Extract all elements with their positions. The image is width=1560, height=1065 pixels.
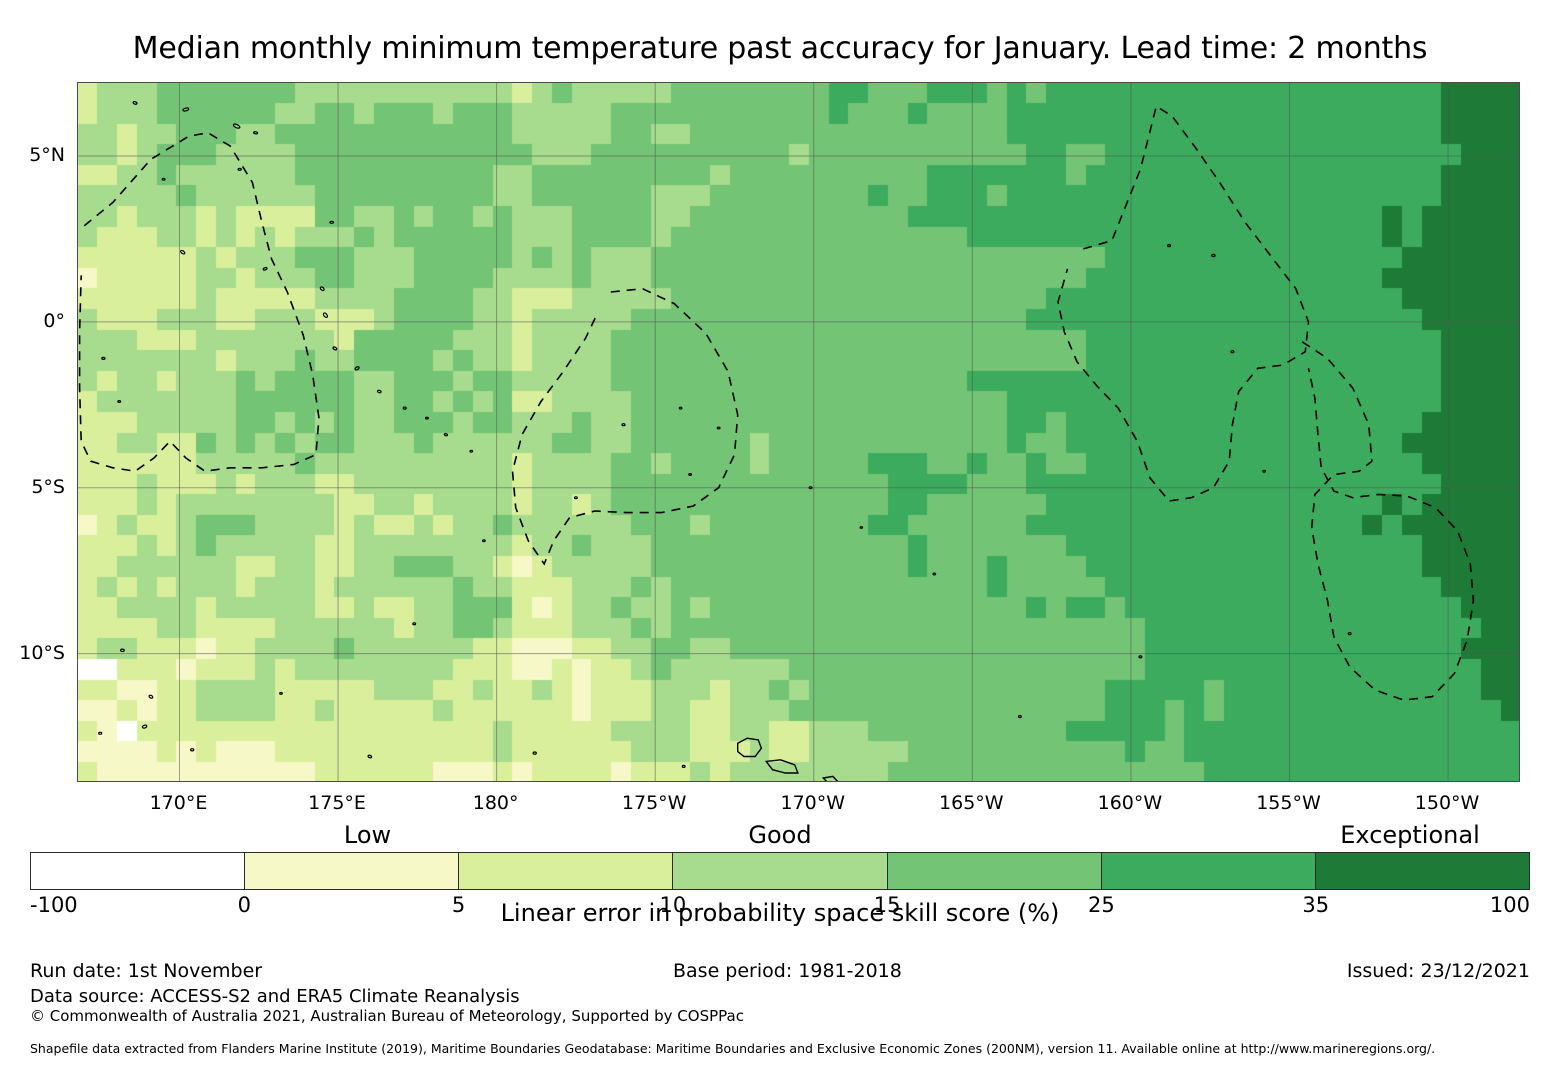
colorbar-segment-0 [31, 853, 244, 889]
eez-boundary-overlay [78, 83, 1519, 781]
colorbar-category-labels: LowGoodExceptional [30, 820, 1530, 850]
colorbar-axis-label: Linear error in probability space skill … [0, 898, 1560, 928]
x-tick-155°W: 155°W [1256, 792, 1321, 814]
climate-skill-figure: Median monthly minimum temperature past … [0, 0, 1560, 1065]
footer-metadata-row: Run date: 1st November Base period: 1981… [30, 958, 1530, 984]
colorbar-category-exceptional: Exceptional [1340, 820, 1480, 850]
y-tick-5°S: 5°S [31, 476, 65, 498]
colorbar-gradient [30, 852, 1530, 890]
x-tick-175°W: 175°W [622, 792, 687, 814]
shapefile-credit-text: Shapefile data extracted from Flanders M… [30, 1040, 1435, 1058]
x-tick-175°E: 175°E [308, 792, 366, 814]
colorbar-segment-5 [1101, 853, 1315, 889]
copyright-text: © Commonwealth of Australia 2021, Austra… [30, 1006, 744, 1027]
colorbar-segment-4 [887, 853, 1101, 889]
x-tick-165°W: 165°W [939, 792, 1004, 814]
x-tick-150°W: 150°W [1415, 792, 1480, 814]
x-tick-160°W: 160°W [1098, 792, 1163, 814]
colorbar-category-low: Low [344, 820, 391, 850]
map-plot-area[interactable] [77, 82, 1520, 782]
page-title: Median monthly minimum temperature past … [0, 30, 1560, 68]
colorbar-segment-1 [244, 853, 458, 889]
y-tick-0°: 0° [43, 310, 65, 332]
x-tick-170°W: 170°W [780, 792, 845, 814]
y-tick-10°S: 10°S [19, 642, 65, 664]
x-tick-170°E: 170°E [150, 792, 208, 814]
colorbar-segment-2 [458, 853, 672, 889]
base-period-text: Base period: 1981-2018 [673, 958, 902, 984]
colorbar-segment-3 [672, 853, 886, 889]
colorbar-category-good: Good [748, 820, 811, 850]
y-tick-5°N: 5°N [29, 144, 65, 166]
x-tick-180°: 180° [473, 792, 519, 814]
issued-date-text: Issued: 23/12/2021 [1347, 958, 1530, 984]
run-date-text: Run date: 1st November [30, 958, 262, 984]
colorbar-segment-6 [1315, 853, 1529, 889]
